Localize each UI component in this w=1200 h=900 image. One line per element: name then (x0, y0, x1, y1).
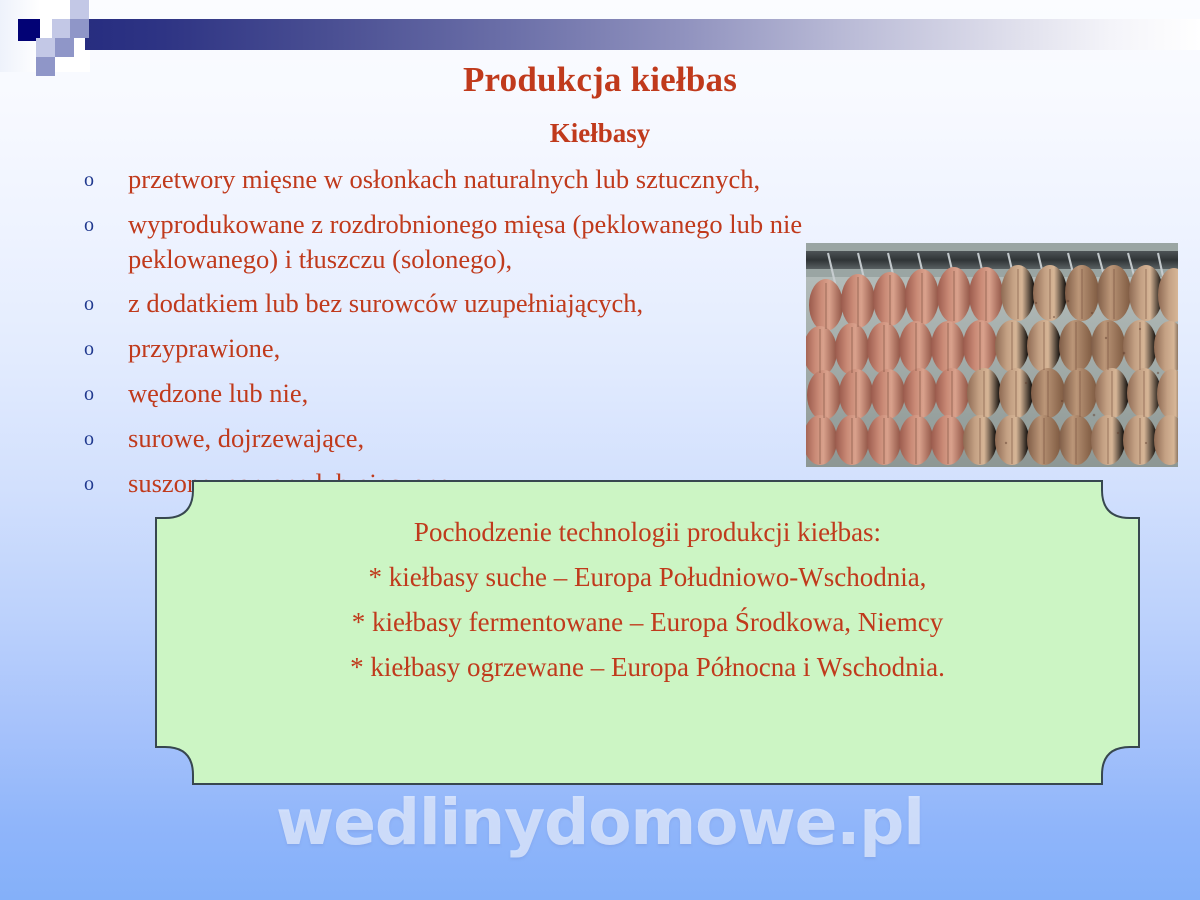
origin-callout-box: Pochodzenie technologii produkcji kiełba… (155, 480, 1140, 785)
list-item-text: surowe, dojrzewające, (128, 421, 866, 456)
callout-line: Pochodzenie technologii produkcji kiełba… (155, 510, 1140, 555)
callout-text: Pochodzenie technologii produkcji kiełba… (155, 510, 1140, 690)
bullet-marker-icon: o (76, 286, 128, 322)
list-item-text: wędzone lub nie, (128, 376, 866, 411)
list-item: oprzetwory mięsne w osłonkach naturalnyc… (76, 162, 866, 198)
list-item-text: przetwory mięsne w osłonkach naturalnych… (128, 162, 866, 197)
callout-line: * kiełbasy fermentowane – Europa Środkow… (155, 600, 1140, 645)
list-item: oz dodatkiem lub bez surowców uzupełniaj… (76, 286, 866, 322)
bullet-list: oprzetwory mięsne w osłonkach naturalnyc… (76, 162, 866, 511)
slide-canvas: Produkcja kiełbas Kiełbasy oprzetwory mi… (0, 0, 1200, 900)
square-light-upper (70, 0, 89, 19)
square-light-mid (52, 19, 71, 38)
page-subtitle: Kiełbasy (0, 118, 1200, 149)
square-medium-lower (55, 38, 74, 57)
list-item: owyprodukowane z rozdrobnionego mięsa (p… (76, 207, 866, 277)
bullet-marker-icon: o (76, 331, 128, 367)
list-item-text: z dodatkiem lub bez surowców uzupełniają… (128, 286, 866, 321)
list-item: osurowe, dojrzewające, (76, 421, 866, 457)
bullet-marker-icon: o (76, 207, 128, 243)
list-item: oprzyprawione, (76, 331, 866, 367)
topbar-gradient-band (85, 19, 1200, 50)
list-item: owędzone lub nie, (76, 376, 866, 412)
bullet-marker-icon: o (76, 376, 128, 412)
callout-line: * kiełbasy ogrzewane – Europa Północna i… (155, 645, 1140, 690)
square-light-lower (36, 38, 55, 57)
callout-line: * kiełbasy suche – Europa Południowo-Wsc… (155, 555, 1140, 600)
bullet-marker-icon: o (76, 162, 128, 198)
bullet-marker-icon: o (76, 421, 128, 457)
list-item-text: wyprodukowane z rozdrobnionego mięsa (pe… (128, 207, 866, 277)
site-watermark: wedlinydomowe.pl (0, 786, 1200, 859)
square-medium-mid (70, 19, 89, 38)
sausages-photo (806, 243, 1178, 467)
list-item-text: przyprawione, (128, 331, 866, 366)
page-title: Produkcja kiełbas (0, 60, 1200, 100)
bullet-marker-icon: o (76, 466, 128, 502)
